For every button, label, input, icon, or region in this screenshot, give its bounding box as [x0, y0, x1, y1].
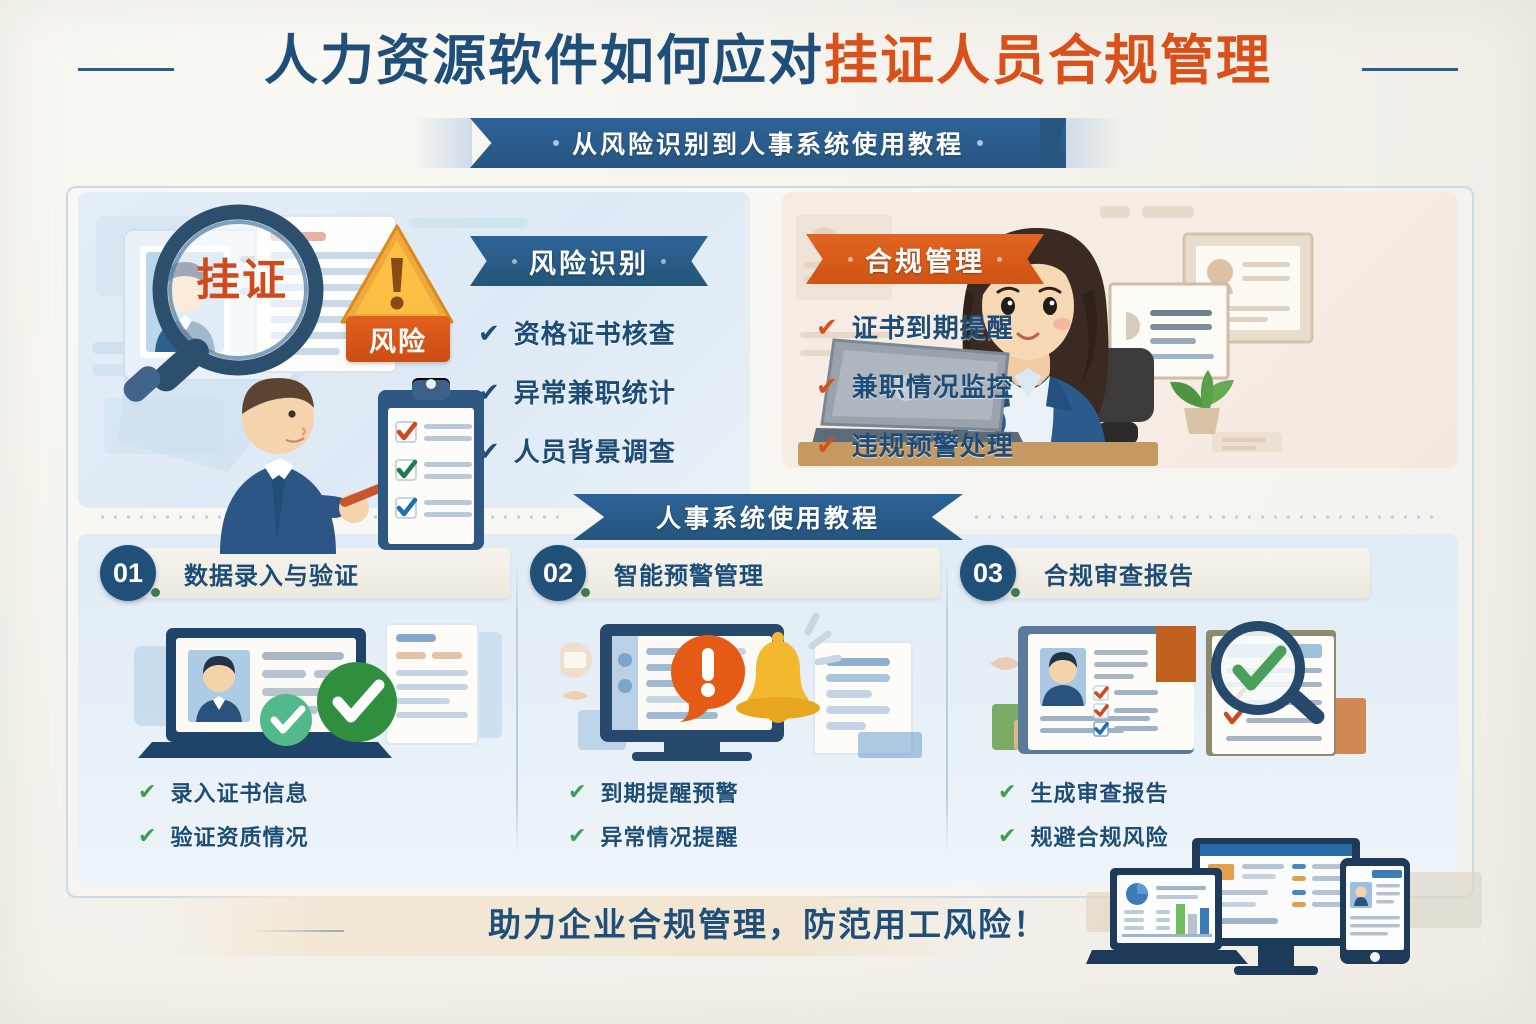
step-number-dot [581, 588, 590, 597]
section-ribbon-label: 人事系统使用教程 [656, 499, 880, 535]
check-icon: ✔ [998, 781, 1016, 803]
compliance-bullet-list: ✔ 证书到期提醒 ✔ 兼职情况监控 ✔ 违规预警处理 [816, 308, 1014, 468]
subtitle-ribbon: 从风险识别到人事系统使用教程 [470, 118, 1066, 168]
risk-bullet-label: 资格证书核查 [514, 314, 676, 351]
ribbon-dot-left [553, 140, 559, 146]
risk-banner-dot-right [661, 259, 666, 264]
step-card-2[interactable]: 02 智能预警管理 [526, 548, 956, 870]
step-1-number-badge: 01 [100, 545, 156, 601]
compliance-banner: 合规管理 [806, 234, 1044, 284]
check-icon: ✔ [568, 781, 586, 803]
check-icon: ✔ [138, 825, 156, 847]
step-3-title: 合规审查报告 [1044, 556, 1194, 591]
step-2-bullets: ✔ 到期提醒预警 ✔ 异常情况提醒 [568, 776, 738, 864]
step-2-bullet-label: 异常情况提醒 [600, 820, 738, 852]
monitor-alert-bell-icon [560, 612, 936, 768]
risk-bullet-list: ✔ 资格证书核查 ✔ 异常兼职统计 ✔ 人员背景调查 [478, 314, 676, 491]
check-icon: ✔ [138, 781, 156, 803]
step-number-dot [151, 588, 160, 597]
clipboard-checklist-icon [186, 356, 486, 556]
compliance-bullet-label: 违规预警处理 [852, 426, 1014, 463]
compliance-bullet-label: 兼职情况监控 [852, 367, 1014, 404]
risk-banner-label: 风险识别 [529, 242, 649, 281]
step-card-1[interactable]: 01 数据录入与验证 [96, 548, 526, 870]
risk-badge-label: 风险 [369, 320, 427, 359]
subtitle-text: 从风险识别到人事系统使用教程 [572, 125, 964, 161]
step-2-bullet-label: 到期提醒预警 [600, 776, 738, 808]
risk-banner: 风险识别 [470, 236, 708, 286]
section-dots-right [970, 515, 1440, 519]
risk-banner-dot-left [512, 259, 517, 264]
infographic-canvas: 人力资源软件如何应对挂证人员合规管理 从风险识别到人事系统使用教程 [0, 0, 1536, 1024]
footer-slogan: 助力企业合规管理，防范用工风险！ [488, 898, 1048, 946]
title-primary: 人力资源软件如何应对 [264, 31, 824, 91]
compliance-bullet-0: ✔ 证书到期提醒 [816, 308, 1014, 345]
step-2-number: 02 [543, 558, 573, 589]
step-1-number: 01 [113, 558, 143, 589]
check-icon: ✔ [816, 432, 838, 458]
compliance-bullet-2: ✔ 违规预警处理 [816, 426, 1014, 463]
step-2-bullet-1: ✔ 异常情况提醒 [568, 820, 738, 852]
step-1-bullets: ✔ 录入证书信息 ✔ 验证资质情况 [138, 776, 308, 864]
section-ribbon: 人事系统使用教程 [573, 494, 963, 540]
risk-bullet-label: 人员背景调查 [514, 432, 676, 469]
plant-icon [1154, 350, 1250, 436]
step-2-title: 智能预警管理 [614, 556, 764, 591]
check-icon: ✔ [816, 373, 838, 399]
step-1-bullet-0: ✔ 录入证书信息 [138, 776, 308, 808]
step-2-header: 02 智能预警管理 [556, 548, 940, 598]
step-3-number: 03 [973, 558, 1003, 589]
step-card-3[interactable]: 03 合规审查报告 [956, 548, 1386, 870]
step-number-dot [1011, 588, 1020, 597]
multi-device-dashboard-icon [1086, 838, 1482, 1024]
step-1-bullet-label: 录入证书信息 [170, 776, 308, 808]
step-3-bullet-label: 生成审查报告 [1030, 776, 1168, 808]
compliance-banner-dot-left [848, 257, 853, 262]
risk-bullet-1: ✔ 异常兼职统计 [478, 373, 676, 410]
compliance-banner-dot-right [997, 257, 1002, 262]
risk-bullet-label: 异常兼职统计 [514, 373, 676, 410]
title-highlight: 挂证人员合规管理 [824, 31, 1272, 91]
ribbon-dot-right [977, 140, 983, 146]
check-icon: ✔ [816, 314, 838, 340]
compliance-bullet-label: 证书到期提醒 [852, 308, 1014, 345]
risk-bullet-0: ✔ 资格证书核查 [478, 314, 676, 351]
check-icon: ✔ [998, 825, 1016, 847]
subtitle-tail-left [412, 118, 472, 168]
panel-compliance-management: 合规管理 ✔ 证书到期提醒 ✔ 兼职情况监控 ✔ 违规预警处理 [782, 192, 1458, 468]
risk-bullet-2: ✔ 人员背景调查 [478, 432, 676, 469]
compliance-banner-label: 合规管理 [865, 240, 985, 279]
check-icon: ✔ [568, 825, 586, 847]
step-1-title: 数据录入与验证 [184, 556, 359, 591]
step-3-header: 03 合规审查报告 [986, 548, 1370, 598]
step-3-number-badge: 03 [960, 545, 1016, 601]
laptop-id-verify-icon [130, 612, 506, 768]
step-2-number-badge: 02 [530, 545, 586, 601]
step-1-bullet-label: 验证资质情况 [170, 820, 308, 852]
check-icon: ✔ [478, 320, 500, 346]
page-title: 人力资源软件如何应对挂证人员合规管理 [264, 34, 1272, 88]
subtitle-tail-right [1064, 118, 1124, 168]
title-block: 人力资源软件如何应对挂证人员合规管理 [0, 34, 1536, 88]
compliance-bullet-1: ✔ 兼职情况监控 [816, 367, 1014, 404]
step-1-bullet-1: ✔ 验证资质情况 [138, 820, 308, 852]
report-magnifier-icon [990, 612, 1366, 768]
step-3-bullet-0: ✔ 生成审查报告 [998, 776, 1168, 808]
magnifier-label: 挂证 [196, 244, 288, 308]
step-2-bullet-0: ✔ 到期提醒预警 [568, 776, 738, 808]
